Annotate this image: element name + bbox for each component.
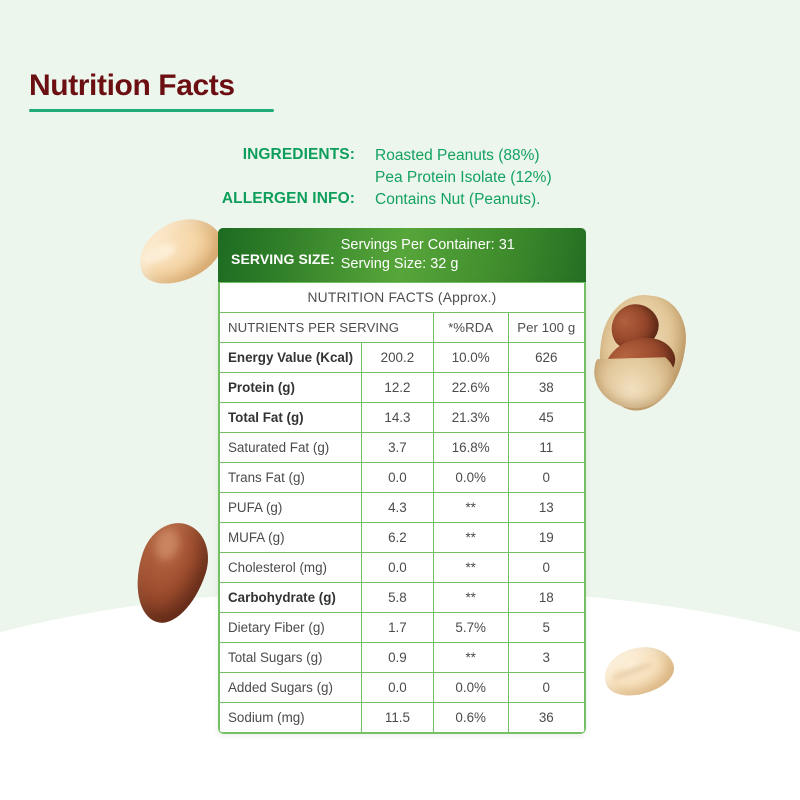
nutrient-name: Total Fat (g) (220, 403, 362, 433)
nutrient-value: 5.8 (362, 583, 434, 613)
table-row: Added Sugars (g)0.00.0%0 (220, 673, 585, 703)
nutrient-value: 3.7 (362, 433, 434, 463)
nutrition-facts-banner-row: NUTRITION FACTS (Approx.) (220, 283, 585, 313)
nutrient-value: 200.2 (362, 343, 434, 373)
column-header-rda: *%RDA (433, 313, 508, 343)
nutrient-value: 0.0 (362, 463, 434, 493)
nutrient-rda: 5.7% (433, 613, 508, 643)
table-row: PUFA (g)4.3**13 (220, 493, 585, 523)
table-row: Total Fat (g)14.321.3%45 (220, 403, 585, 433)
nutrition-facts-card: SERVING SIZE: Servings Per Container: 31… (218, 228, 586, 734)
allergen-label: ALLERGEN INFO: (200, 189, 355, 208)
table-row: Cholesterol (mg)0.0**0 (220, 553, 585, 583)
table-row: Total Sugars (g)0.9**3 (220, 643, 585, 673)
nutrient-per-100g: 5 (508, 613, 584, 643)
nutrient-name: PUFA (g) (220, 493, 362, 523)
ingredients-row: INGREDIENTS: Roasted Peanuts (88%) Pea P… (200, 145, 670, 189)
nutrition-facts-banner: NUTRITION FACTS (Approx.) (220, 283, 585, 313)
nutrient-value: 4.3 (362, 493, 434, 523)
allergen-row: ALLERGEN INFO: Contains Nut (Peanuts). (200, 189, 670, 211)
table-row: Carbohydrate (g)5.8**18 (220, 583, 585, 613)
nutrient-value: 12.2 (362, 373, 434, 403)
nutrient-rda: ** (433, 523, 508, 553)
nutrient-value: 11.5 (362, 703, 434, 733)
title-underline-rule (29, 109, 274, 113)
nutrient-value: 0.0 (362, 673, 434, 703)
nutrient-name: Carbohydrate (g) (220, 583, 362, 613)
nutrient-name: Dietary Fiber (g) (220, 613, 362, 643)
nutrient-rda: 16.8% (433, 433, 508, 463)
title-block: Nutrition Facts (29, 70, 329, 112)
nutrition-table-body: NUTRITION FACTS (Approx.) NUTRIENTS PER … (220, 283, 585, 733)
column-header-per-100g: Per 100 g (508, 313, 584, 343)
ingredients-block: INGREDIENTS: Roasted Peanuts (88%) Pea P… (200, 145, 670, 211)
serving-size-amount: Serving Size: 32 g (341, 255, 515, 274)
nutrient-per-100g: 45 (508, 403, 584, 433)
nutrition-table: NUTRITION FACTS (Approx.) NUTRIENTS PER … (219, 282, 585, 733)
page-title: Nutrition Facts (29, 70, 329, 102)
nutrient-value: 1.7 (362, 613, 434, 643)
nutrient-name: Sodium (mg) (220, 703, 362, 733)
nutrient-per-100g: 13 (508, 493, 584, 523)
ingredients-label: INGREDIENTS: (200, 145, 355, 164)
nutrient-name: Energy Value (Kcal) (220, 343, 362, 373)
nutrient-per-100g: 0 (508, 463, 584, 493)
nutrient-rda: 10.0% (433, 343, 508, 373)
nutrient-per-100g: 18 (508, 583, 584, 613)
table-row: Saturated Fat (g)3.716.8%11 (220, 433, 585, 463)
nutrient-name: Cholesterol (mg) (220, 553, 362, 583)
peanut-kernel-blanched-icon (129, 207, 231, 295)
nutrient-rda: ** (433, 643, 508, 673)
nutrient-per-100g: 0 (508, 553, 584, 583)
serving-size-values: Servings Per Container: 31 Serving Size:… (335, 236, 515, 275)
table-row: Trans Fat (g)0.00.0%0 (220, 463, 585, 493)
nutrition-label-page: Nutrition Facts INGREDIENTS: Roasted Pea… (0, 0, 800, 800)
serving-size-header: SERVING SIZE: Servings Per Container: 31… (218, 228, 586, 282)
ingredients-line-2: Pea Protein Isolate (12%) (375, 167, 552, 189)
nutrient-rda: 21.3% (433, 403, 508, 433)
nutrient-per-100g: 36 (508, 703, 584, 733)
nutrient-value: 0.9 (362, 643, 434, 673)
nutrient-rda: ** (433, 493, 508, 523)
nutrient-name: Added Sugars (g) (220, 673, 362, 703)
nutrient-per-100g: 38 (508, 373, 584, 403)
nutrient-name: Total Sugars (g) (220, 643, 362, 673)
nutrient-rda: ** (433, 583, 508, 613)
nutrient-per-100g: 626 (508, 343, 584, 373)
nutrient-value: 0.0 (362, 553, 434, 583)
column-header-nutrients: NUTRIENTS PER SERVING (220, 313, 434, 343)
nutrient-name: MUFA (g) (220, 523, 362, 553)
table-row: MUFA (g)6.2**19 (220, 523, 585, 553)
ingredients-value: Roasted Peanuts (88%) Pea Protein Isolat… (355, 145, 552, 189)
nutrient-name: Trans Fat (g) (220, 463, 362, 493)
nutrition-table-header-row: NUTRIENTS PER SERVING *%RDA Per 100 g (220, 313, 585, 343)
ingredients-line-1: Roasted Peanuts (88%) (375, 145, 552, 167)
nutrient-name: Saturated Fat (g) (220, 433, 362, 463)
nutrient-per-100g: 3 (508, 643, 584, 673)
nutrient-rda: 0.0% (433, 463, 508, 493)
serving-size-label: SERVING SIZE: (231, 243, 335, 267)
nutrient-rda: 22.6% (433, 373, 508, 403)
nutrient-rda: 0.6% (433, 703, 508, 733)
nutrient-value: 6.2 (362, 523, 434, 553)
nutrient-per-100g: 11 (508, 433, 584, 463)
table-row: Sodium (mg)11.50.6%36 (220, 703, 585, 733)
table-row: Energy Value (Kcal)200.210.0%626 (220, 343, 585, 373)
table-row: Protein (g)12.222.6%38 (220, 373, 585, 403)
nutrient-name: Protein (g) (220, 373, 362, 403)
nutrition-table-wrapper: NUTRITION FACTS (Approx.) NUTRIENTS PER … (218, 282, 586, 734)
servings-per-container: Servings Per Container: 31 (341, 236, 515, 255)
nutrient-rda: 0.0% (433, 673, 508, 703)
nutrient-per-100g: 19 (508, 523, 584, 553)
nutrient-per-100g: 0 (508, 673, 584, 703)
nutrient-rda: ** (433, 553, 508, 583)
nutrient-value: 14.3 (362, 403, 434, 433)
table-row: Dietary Fiber (g)1.75.7%5 (220, 613, 585, 643)
allergen-value: Contains Nut (Peanuts). (355, 189, 540, 211)
peanut-shell-open-icon (592, 290, 691, 417)
